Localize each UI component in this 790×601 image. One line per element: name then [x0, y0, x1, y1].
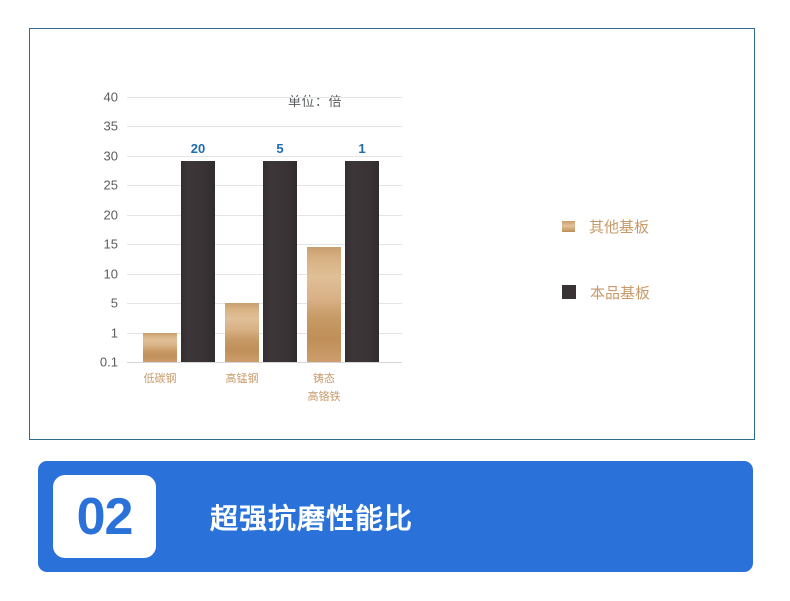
legend-label-product-substrate: 本品基板	[590, 282, 650, 303]
section-number: 02	[77, 491, 133, 543]
legend-item-other-substrate: 其他基板	[562, 215, 650, 237]
y-axis-tick-label: 30	[104, 148, 118, 163]
bar-value-label: 20	[191, 141, 205, 156]
legend-swatch-dark-icon	[562, 285, 576, 299]
legend-label-other-substrate: 其他基板	[589, 216, 649, 237]
gridline	[127, 97, 402, 98]
y-axis-tick-label: 40	[104, 90, 118, 105]
bar-other-substrate	[307, 247, 341, 362]
bar-product-substrate	[345, 161, 379, 362]
gridline	[127, 156, 402, 157]
plot-area: 40353025201510510.120低碳钢5高锰钢1铸态高铬铁	[127, 97, 402, 362]
bar-product-substrate	[263, 161, 297, 362]
y-axis-tick-label: 10	[104, 266, 118, 281]
bar-product-substrate	[181, 161, 215, 362]
gridline	[127, 126, 402, 127]
y-axis-tick-label: 1	[111, 325, 118, 340]
y-axis-tick-label: 5	[111, 296, 118, 311]
x-axis-category-line: 高铬铁	[308, 388, 341, 406]
section-banner: 02 超强抗磨性能比	[38, 461, 753, 572]
y-axis-tick-label: 0.1	[100, 355, 118, 370]
legend-swatch-bronze-icon	[562, 221, 575, 232]
chart-legend: 其他基板 本品基板	[562, 215, 650, 347]
x-axis-category-line: 铸态	[308, 370, 341, 388]
legend-item-product-substrate: 本品基板	[562, 281, 650, 303]
x-axis-category-label: 高锰钢	[226, 370, 259, 388]
bar-value-label: 1	[358, 141, 365, 156]
y-axis-tick-label: 15	[104, 237, 118, 252]
bar-value-label: 5	[276, 141, 283, 156]
section-title: 超强抗磨性能比	[210, 461, 413, 572]
y-axis-tick-label: 25	[104, 178, 118, 193]
gridline	[127, 362, 402, 363]
y-axis-tick-label: 35	[104, 119, 118, 134]
x-axis-category-label: 低碳钢	[144, 370, 177, 388]
x-axis-category-label: 铸态高铬铁	[308, 370, 341, 406]
y-axis-tick-label: 20	[104, 207, 118, 222]
x-axis-category-line: 高锰钢	[226, 370, 259, 388]
section-number-badge: 02	[49, 471, 160, 562]
bar-chart: 单位：倍 40353025201510510.120低碳钢5高锰钢1铸态高铬铁 …	[30, 29, 756, 441]
x-axis-category-line: 低碳钢	[144, 370, 177, 388]
bar-other-substrate	[143, 333, 177, 362]
bar-other-substrate	[225, 303, 259, 362]
chart-card: 单位：倍 40353025201510510.120低碳钢5高锰钢1铸态高铬铁 …	[29, 28, 755, 440]
